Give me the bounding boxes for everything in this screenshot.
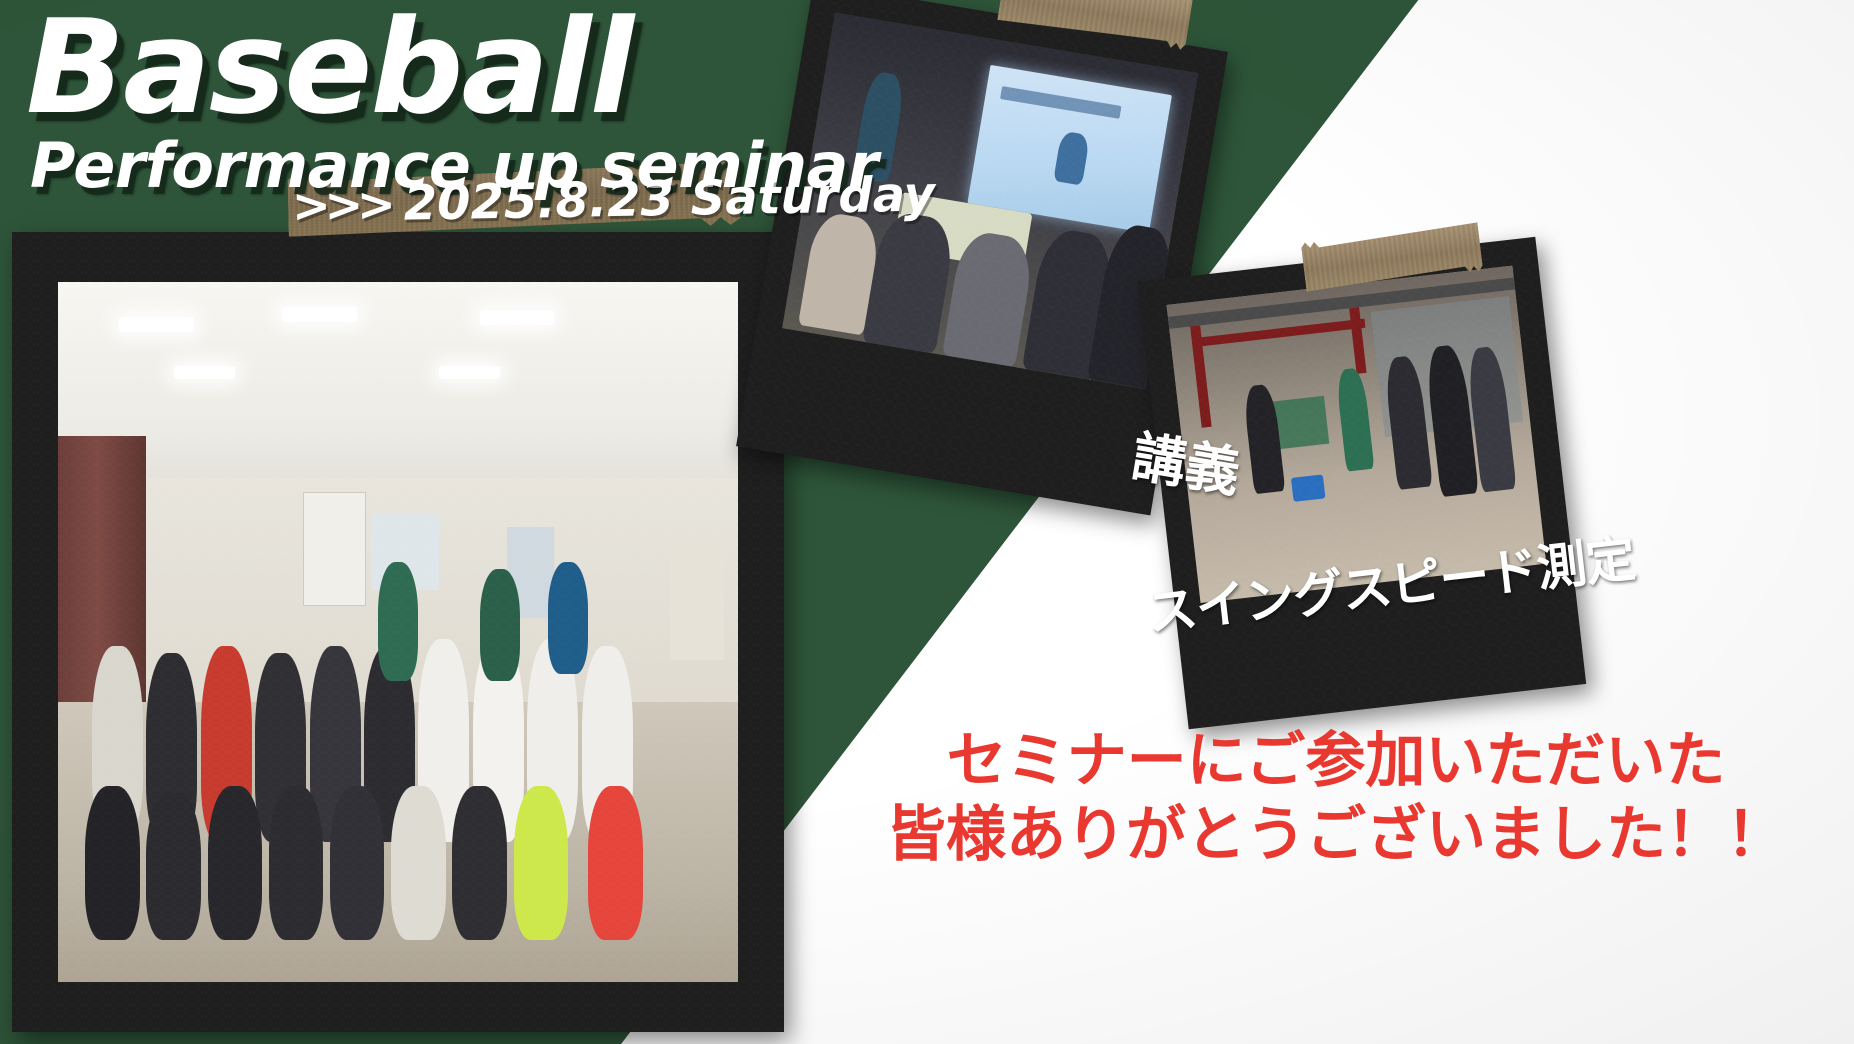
- person: [480, 569, 521, 681]
- slide-illustration: [1053, 131, 1090, 186]
- equipment-bin: [1291, 474, 1325, 501]
- thank-you-message: セミナーにご参加いただいた 皆様ありがとうございました！！: [836, 724, 1836, 872]
- group-photo: [58, 282, 738, 982]
- person: [378, 562, 419, 681]
- person: [330, 786, 384, 940]
- person: [208, 786, 262, 940]
- person: [146, 793, 200, 940]
- light-panel: [282, 307, 357, 322]
- person: [85, 786, 139, 940]
- chevrons-icon: >>>: [292, 177, 391, 233]
- light-panel: [439, 366, 500, 379]
- person: [452, 786, 506, 940]
- light-panel: [119, 317, 194, 332]
- polaroid-frame-group-photo: [12, 232, 784, 1032]
- light-panel: [174, 366, 235, 379]
- doorway: [303, 492, 366, 606]
- person: [548, 562, 589, 674]
- person: [391, 786, 445, 940]
- page-title: Baseball: [26, 6, 926, 130]
- ceiling: [58, 282, 738, 492]
- person: [514, 786, 568, 940]
- date-banner-text: >>>2025.8.23 Saturday: [292, 164, 936, 235]
- light-panel: [480, 310, 555, 325]
- person: [588, 786, 642, 940]
- slide-title-bar: [1000, 86, 1122, 119]
- photo-scene-group: [58, 282, 738, 982]
- person: [269, 786, 323, 940]
- thank-you-line-1: セミナーにご参加いただいた: [836, 724, 1836, 798]
- thank-you-line-2: 皆様ありがとうございました！！: [836, 798, 1836, 872]
- poster-canvas: Baseball Performance up seminar >>>2025.…: [0, 0, 1854, 1044]
- date-value: 2025.8.23 Saturday: [403, 166, 935, 231]
- poster-board: [670, 534, 724, 660]
